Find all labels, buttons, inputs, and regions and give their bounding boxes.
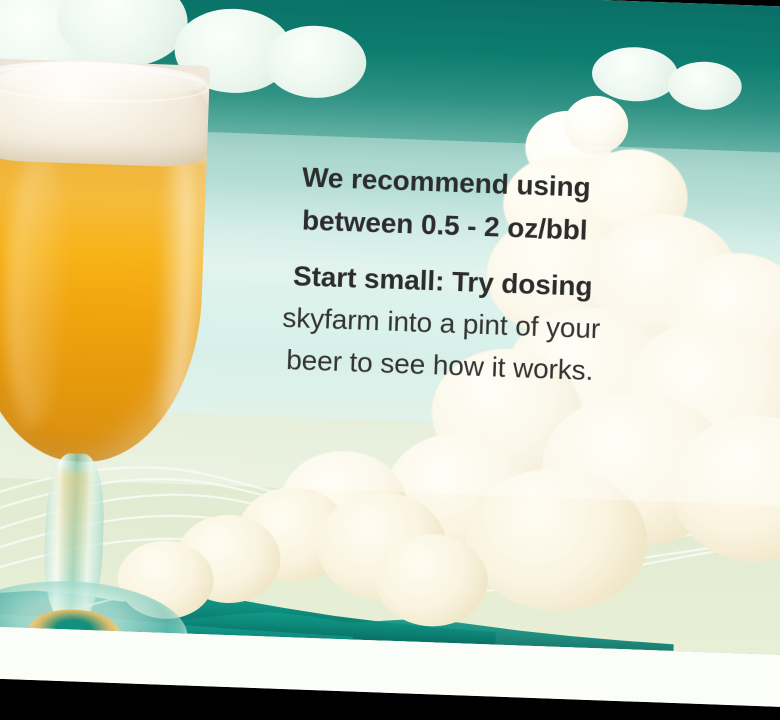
tilted-card-wrapper: We recommend using between 0.5 - 2 oz/bb…: [0, 0, 780, 708]
recommendation-copy: We recommend using between 0.5 - 2 oz/bb…: [183, 154, 703, 396]
screenshot-stage: We recommend using between 0.5 - 2 oz/bb…: [0, 0, 780, 720]
scene-illustration: We recommend using between 0.5 - 2 oz/bb…: [0, 0, 780, 656]
photo-card: We recommend using between 0.5 - 2 oz/bb…: [0, 0, 780, 708]
stem-refraction-highlight: [55, 469, 89, 590]
cloud-puff: [667, 60, 743, 111]
cloud-puff: [591, 46, 679, 103]
cloud-puff: [263, 24, 368, 100]
glass-highlight-left: [2, 147, 72, 429]
